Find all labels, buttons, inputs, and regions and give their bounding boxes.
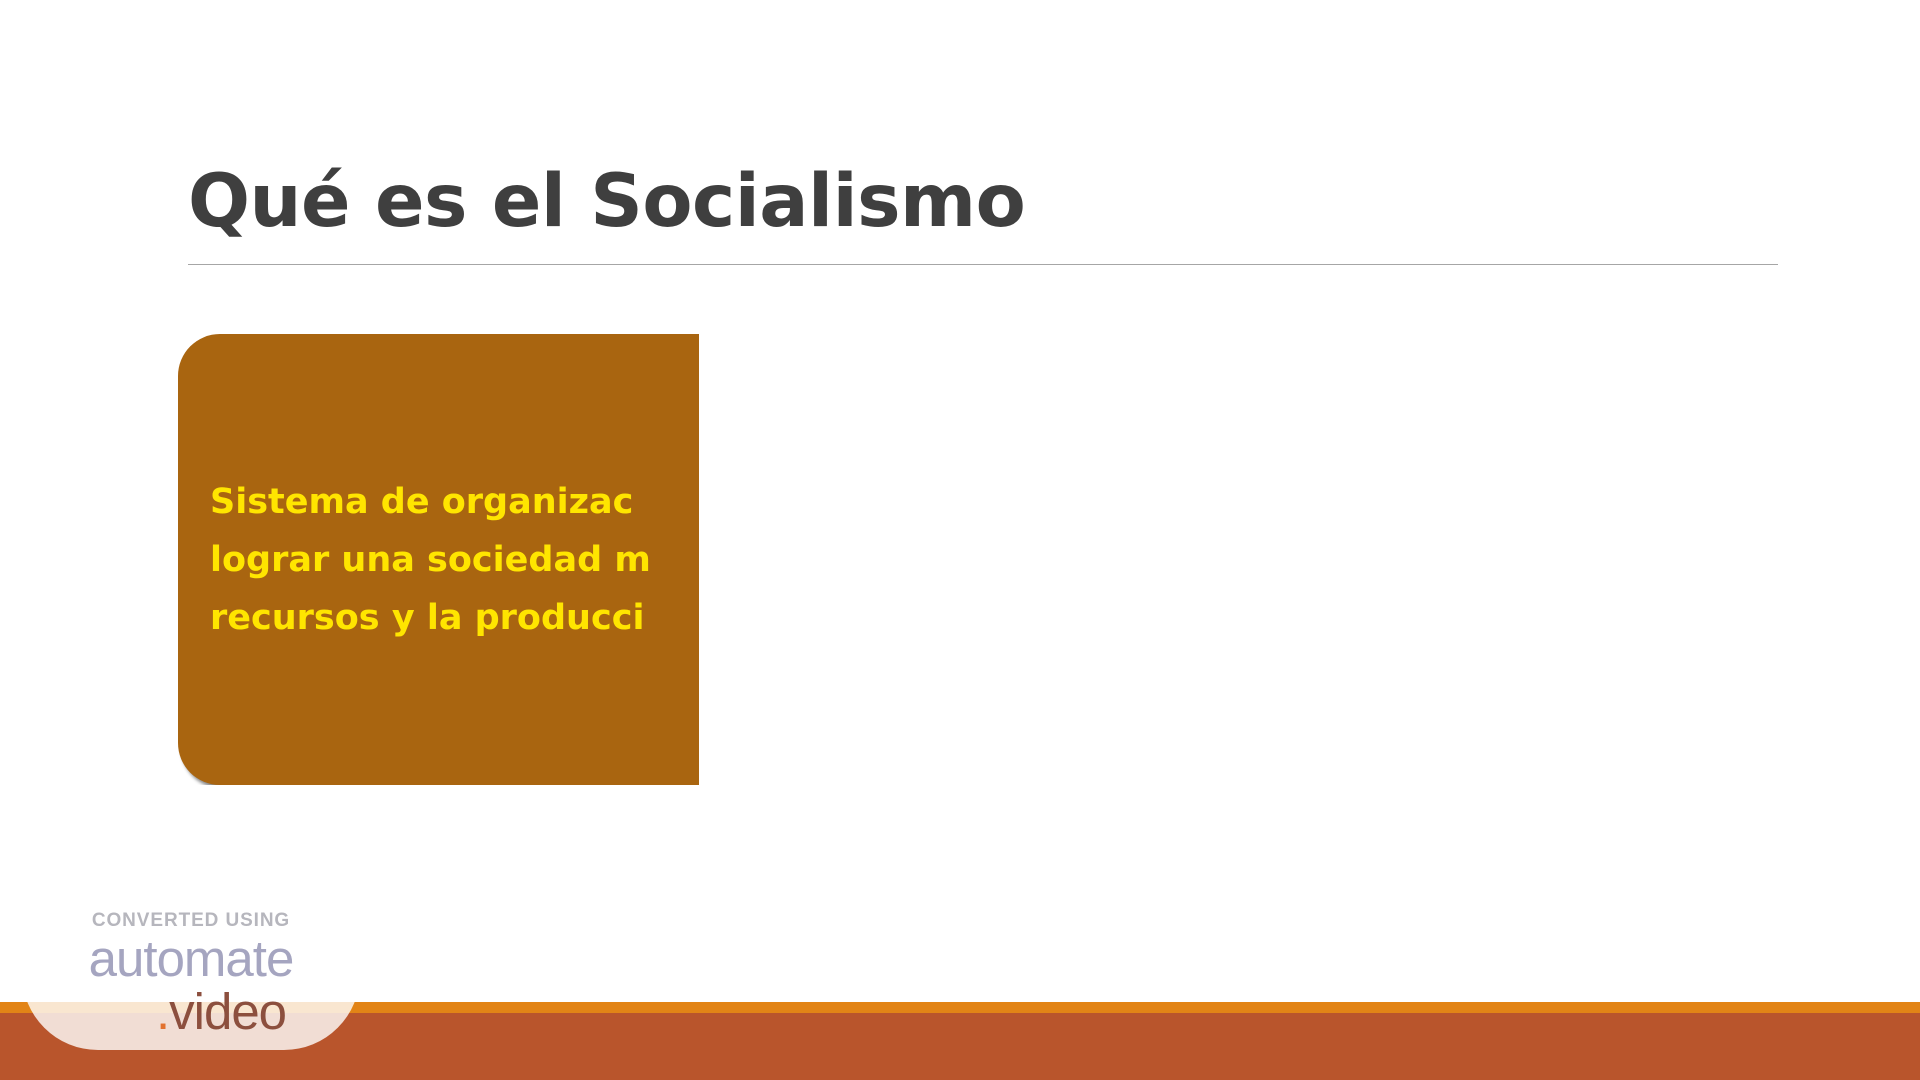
- footer-stripe-thin: [0, 1002, 1920, 1013]
- content-card-clip: Sistema de organizac lograr una sociedad…: [178, 334, 699, 785]
- footer-stripe-thick: [0, 1013, 1920, 1080]
- content-card-text: Sistema de organizac lograr una sociedad…: [178, 473, 683, 647]
- page-title: Qué es el Socialismo: [188, 156, 1093, 248]
- presentation-slide: Qué es el Socialismo Sistema de organiza…: [0, 0, 1920, 1080]
- title-block: Qué es el Socialismo: [188, 156, 1778, 266]
- watermark-brand: automate: [89, 934, 294, 984]
- content-card[interactable]: Sistema de organizac lograr una sociedad…: [178, 334, 699, 785]
- title-divider: [188, 264, 1778, 265]
- watermark-caption: CONVERTED USING: [92, 910, 290, 932]
